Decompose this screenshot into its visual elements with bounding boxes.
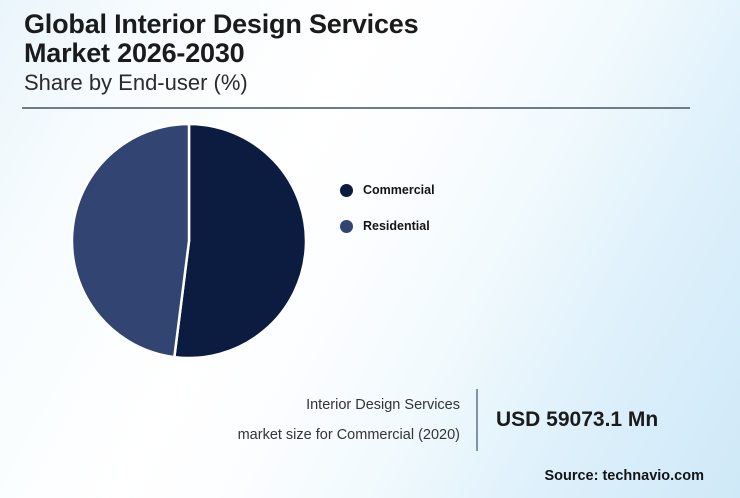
page-title-line-1: Global Interior Design Services [24, 10, 704, 39]
chart-canvas: Global Interior Design Services Market 2… [0, 0, 740, 498]
chart-legend: Commercial Residential [340, 172, 435, 244]
stat-caption: Interior Design Services market size for… [168, 390, 476, 450]
pie-chart-svg [66, 118, 312, 364]
stat-caption-line-2: market size for Commercial (2020) [168, 420, 460, 450]
legend-swatch-commercial [340, 184, 353, 197]
chart-header: Global Interior Design Services Market 2… [24, 10, 704, 96]
legend-item-residential[interactable]: Residential [340, 208, 435, 244]
source-credit: Source: technavio.com [544, 468, 704, 484]
legend-swatch-residential [340, 220, 353, 233]
pie-slice-group [72, 124, 306, 358]
stat-callout: Interior Design Services market size for… [168, 388, 708, 452]
pie-slice-commercial[interactable] [174, 124, 306, 358]
stat-value: USD 59073.1 Mn [478, 408, 658, 432]
legend-label-commercial: Commercial [363, 183, 435, 197]
legend-item-commercial[interactable]: Commercial [340, 172, 435, 208]
pie-chart [66, 118, 312, 364]
pie-slice-residential[interactable] [72, 124, 189, 357]
legend-label-residential: Residential [363, 219, 430, 233]
header-divider-rule [22, 107, 690, 109]
page-title-line-2: Market 2026-2030 [24, 39, 704, 68]
chart-subtitle: Share by End-user (%) [24, 70, 704, 96]
stat-caption-line-1: Interior Design Services [168, 390, 460, 420]
